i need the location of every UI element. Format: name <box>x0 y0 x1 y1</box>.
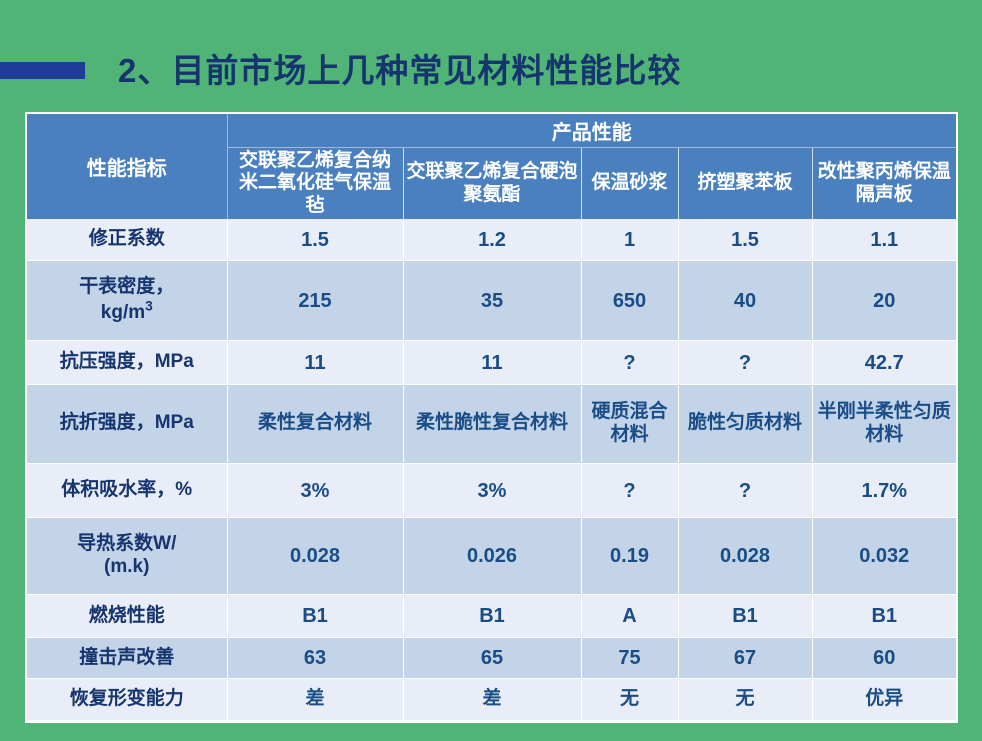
table-row: 干表密度，kg/m3 215 35 650 40 20 <box>27 261 956 341</box>
cell-4-2: ? <box>581 463 678 518</box>
cell-4-1: 3% <box>403 463 581 518</box>
cell-0-2: 1 <box>581 219 678 261</box>
material-comparison-table-wrapper: 性能指标 产品性能 交联聚乙烯复合纳米二氧化硅气保温毡 交联聚乙烯复合硬泡聚氨酯… <box>25 112 958 723</box>
cell-3-3: 脆性匀质材料 <box>678 384 812 463</box>
table-body: 修正系数 1.5 1.2 1 1.5 1.1 干表密度，kg/m3 215 35… <box>27 219 956 720</box>
table-row: 导热系数W/(m.k) 0.028 0.026 0.19 0.028 0.032 <box>27 518 956 595</box>
page-title: 2、目前市场上几种常见材料性能比较 <box>118 48 681 94</box>
cell-3-1: 柔性脆性复合材料 <box>403 384 581 463</box>
cell-5-3: 0.028 <box>678 518 812 595</box>
cell-8-4: 优异 <box>812 679 956 721</box>
cell-1-4: 20 <box>812 261 956 341</box>
table-row: 恢复形变能力 差 差 无 无 优异 <box>27 679 956 721</box>
cell-8-1: 差 <box>403 679 581 721</box>
cell-8-2: 无 <box>581 679 678 721</box>
row-label-5-text: 导热系数W/(m.k) <box>77 533 176 577</box>
header-group-label: 产品性能 <box>227 114 956 148</box>
row-label-4: 体积吸水率，% <box>27 463 227 518</box>
row-label-5: 导热系数W/(m.k) <box>27 518 227 595</box>
cell-6-3: B1 <box>678 595 812 638</box>
header-index-label: 性能指标 <box>27 114 227 219</box>
cell-2-1: 11 <box>403 341 581 385</box>
cell-2-0: 11 <box>227 341 403 385</box>
slide-canvas: 2、目前市场上几种常见材料性能比较 性能指标 产品性能 交联聚乙烯复合纳米二氧化… <box>0 0 982 741</box>
row-label-7: 撞击声改善 <box>27 637 227 679</box>
material-comparison-table: 性能指标 产品性能 交联聚乙烯复合纳米二氧化硅气保温毡 交联聚乙烯复合硬泡聚氨酯… <box>27 114 956 721</box>
cell-5-0: 0.028 <box>227 518 403 595</box>
cell-0-3: 1.5 <box>678 219 812 261</box>
cell-2-2: ? <box>581 341 678 385</box>
row-label-1-text: 干表密度，kg/m3 <box>79 276 174 323</box>
cell-7-2: 75 <box>581 637 678 679</box>
table-row: 修正系数 1.5 1.2 1 1.5 1.1 <box>27 219 956 261</box>
cell-6-2: A <box>581 595 678 638</box>
row-label-6: 燃烧性能 <box>27 595 227 638</box>
cell-1-0: 215 <box>227 261 403 341</box>
column-header-4: 改性聚丙烯保温隔声板 <box>812 148 956 220</box>
cell-8-0: 差 <box>227 679 403 721</box>
cell-4-0: 3% <box>227 463 403 518</box>
cell-7-4: 60 <box>812 637 956 679</box>
cell-6-1: B1 <box>403 595 581 638</box>
table-row: 撞击声改善 63 65 75 67 60 <box>27 637 956 679</box>
cell-5-1: 0.026 <box>403 518 581 595</box>
cell-6-4: B1 <box>812 595 956 638</box>
cell-3-2: 硬质混合材料 <box>581 384 678 463</box>
cell-1-2: 650 <box>581 261 678 341</box>
row-label-0: 修正系数 <box>27 219 227 261</box>
table-head: 性能指标 产品性能 交联聚乙烯复合纳米二氧化硅气保温毡 交联聚乙烯复合硬泡聚氨酯… <box>27 114 956 219</box>
cell-3-0: 柔性复合材料 <box>227 384 403 463</box>
title-accent-dash <box>0 62 85 79</box>
row-label-3: 抗折强度，MPa <box>27 384 227 463</box>
slide-title-bar: 2、目前市场上几种常见材料性能比较 <box>0 48 982 100</box>
table-header-group-row: 性能指标 产品性能 <box>27 114 956 148</box>
cell-7-3: 67 <box>678 637 812 679</box>
cell-5-4: 0.032 <box>812 518 956 595</box>
cell-1-1: 35 <box>403 261 581 341</box>
row-label-8: 恢复形变能力 <box>27 679 227 721</box>
row-label-2: 抗压强度，MPa <box>27 341 227 385</box>
cell-7-1: 65 <box>403 637 581 679</box>
row-label-1: 干表密度，kg/m3 <box>27 261 227 341</box>
cell-0-1: 1.2 <box>403 219 581 261</box>
table-row: 燃烧性能 B1 B1 A B1 B1 <box>27 595 956 638</box>
cell-8-3: 无 <box>678 679 812 721</box>
cell-5-2: 0.19 <box>581 518 678 595</box>
cell-7-0: 63 <box>227 637 403 679</box>
cell-2-3: ? <box>678 341 812 385</box>
cell-2-4: 42.7 <box>812 341 956 385</box>
table-row: 抗折强度，MPa 柔性复合材料 柔性脆性复合材料 硬质混合材料 脆性匀质材料 半… <box>27 384 956 463</box>
cell-4-3: ? <box>678 463 812 518</box>
table-row: 抗压强度，MPa 11 11 ? ? 42.7 <box>27 341 956 385</box>
cell-0-0: 1.5 <box>227 219 403 261</box>
cell-4-4: 1.7% <box>812 463 956 518</box>
column-header-2: 保温砂浆 <box>581 148 678 220</box>
cell-1-3: 40 <box>678 261 812 341</box>
column-header-3: 挤塑聚苯板 <box>678 148 812 220</box>
column-header-0: 交联聚乙烯复合纳米二氧化硅气保温毡 <box>227 148 403 220</box>
cell-3-4: 半刚半柔性匀质材料 <box>812 384 956 463</box>
cell-6-0: B1 <box>227 595 403 638</box>
table-row: 体积吸水率，% 3% 3% ? ? 1.7% <box>27 463 956 518</box>
column-header-1: 交联聚乙烯复合硬泡聚氨酯 <box>403 148 581 220</box>
cell-0-4: 1.1 <box>812 219 956 261</box>
